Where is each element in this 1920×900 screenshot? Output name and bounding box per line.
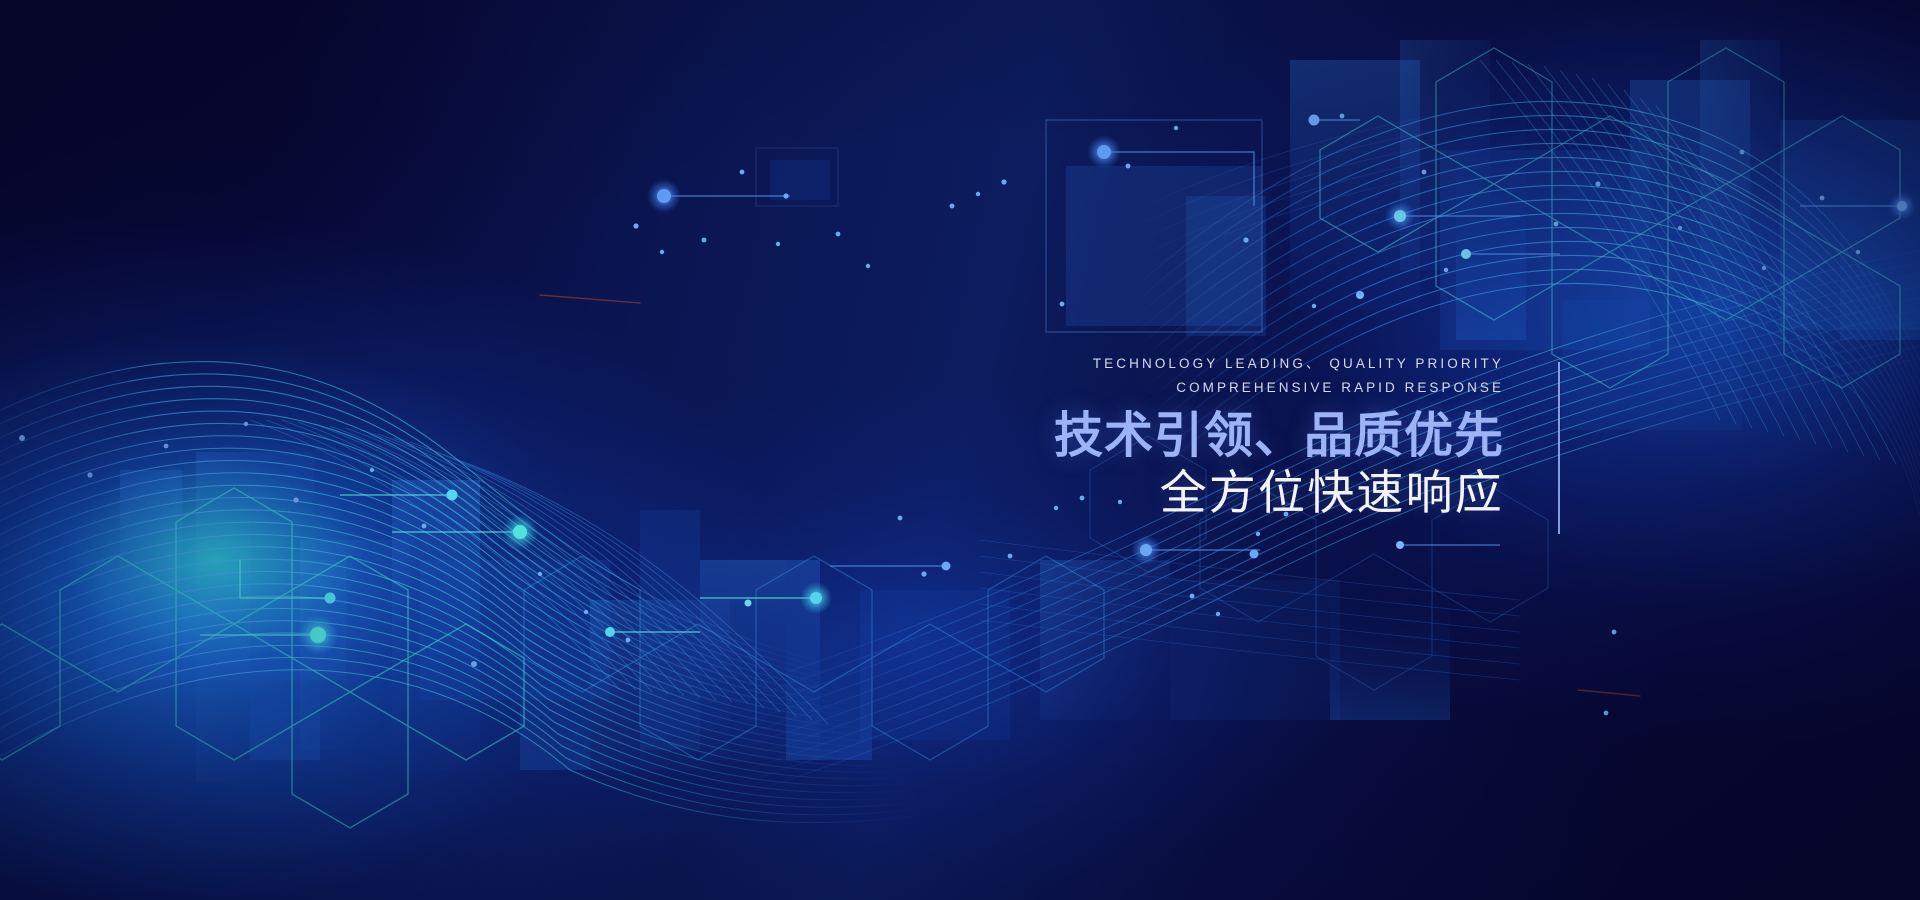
eyebrow-line-1: TECHNOLOGY LEADING、 QUALITY PRIORITY	[1022, 352, 1504, 376]
connector-traces-cyan	[200, 495, 816, 635]
center-hex-cluster	[524, 556, 1104, 760]
scatter-dots	[19, 114, 1860, 716]
headline-text-block: TECHNOLOGY LEADING、 QUALITY PRIORITY COM…	[1022, 352, 1504, 522]
wave-bundle-layer	[0, 0, 1920, 900]
upper-left-strands	[1080, 96, 1576, 296]
vignette-overlay	[0, 0, 1920, 900]
center-wave-sweep	[700, 250, 1920, 808]
left-diagonal-comb	[250, 420, 828, 724]
node-connector-layer	[0, 0, 1920, 900]
right-diagonal-comb	[1480, 60, 1896, 464]
cyan-core-glow	[0, 0, 1920, 900]
headline-line-2: 全方位快速响应	[1022, 464, 1504, 522]
vertical-divider	[1558, 362, 1560, 534]
center-glow-wash	[0, 0, 1920, 900]
rect-panel-layer	[0, 0, 1920, 900]
left-glow-wash	[0, 0, 1920, 900]
right-hex-cluster	[1320, 48, 1900, 388]
left-wave-bundle	[0, 362, 930, 823]
eyebrow-line-2: COMPREHENSIVE RAPID RESPONSE	[1022, 376, 1504, 400]
banner-root: TECHNOLOGY LEADING、 QUALITY PRIORITY COM…	[0, 0, 1920, 900]
hex-network-layer	[0, 0, 1920, 900]
headline-line-1: 技术引领、品质优先	[1022, 406, 1504, 466]
left-hex-cluster	[0, 488, 524, 828]
diagonal-light-band	[0, 0, 1920, 900]
right-glow-wash	[0, 0, 1920, 900]
lower-right-hatch	[980, 540, 1520, 680]
